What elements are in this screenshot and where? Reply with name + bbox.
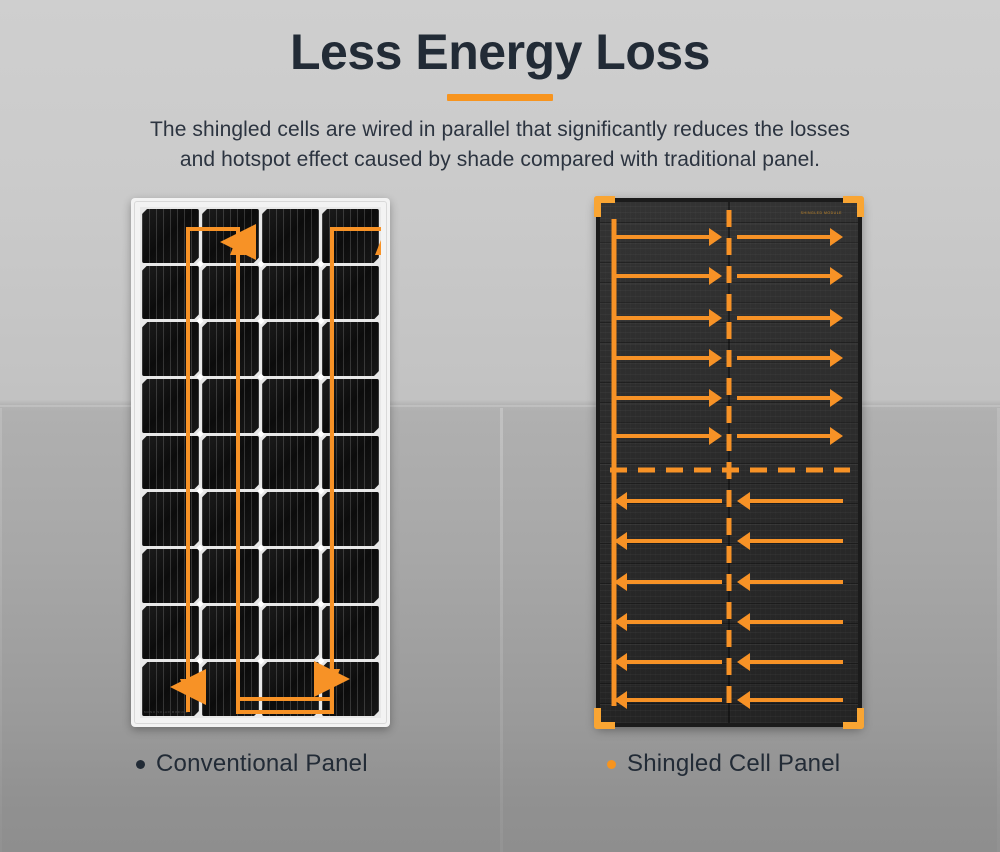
shingled-arrow-upper-right-3 xyxy=(737,309,843,327)
shingled-arrow-upper-right-5 xyxy=(737,389,843,407)
conventional-cell-grid xyxy=(140,207,381,718)
subtitle-line-2: and hotspot effect caused by shade compa… xyxy=(0,145,1000,175)
bullet-dot-shingled-icon xyxy=(607,760,616,769)
shingled-arrow-upper-right-4 xyxy=(737,349,843,367)
background-divider-left xyxy=(0,408,2,852)
shingled-arrow-upper-left-3 xyxy=(614,309,722,327)
subtitle-line-1: The shingled cells are wired in parallel… xyxy=(0,115,1000,145)
solar-cell xyxy=(142,209,199,263)
corner-bracket-bottom-left-icon xyxy=(594,708,615,729)
solar-cell xyxy=(262,606,319,660)
shingled-panel-caption-label: Shingled Cell Panel xyxy=(627,750,840,778)
solar-cell xyxy=(322,606,379,660)
solar-cell xyxy=(322,209,379,263)
solar-cell xyxy=(202,322,259,376)
solar-cell xyxy=(322,492,379,546)
shingled-arrow-lower-left-2 xyxy=(614,532,722,550)
solar-cell xyxy=(262,379,319,433)
solar-cell xyxy=(262,322,319,376)
page-subtitle: The shingled cells are wired in parallel… xyxy=(0,115,1000,175)
solar-cell xyxy=(322,549,379,603)
shingled-panel-caption: Shingled Cell Panel xyxy=(607,750,840,778)
corner-bracket-top-right-icon xyxy=(843,196,864,217)
solar-cell xyxy=(142,379,199,433)
shingled-center-seam xyxy=(728,202,730,723)
conventional-panel-caption: Conventional Panel xyxy=(136,750,368,778)
solar-cell xyxy=(322,662,379,716)
shingled-arrow-lower-left-1 xyxy=(614,492,722,510)
corner-bracket-bottom-right-icon xyxy=(843,708,864,729)
conventional-panel-glass: MONO SOLAR MODULE xyxy=(140,207,381,718)
background-divider-center xyxy=(500,408,503,852)
solar-cell xyxy=(142,606,199,660)
shingled-arrow-upper-left-4 xyxy=(614,349,722,367)
solar-cell xyxy=(202,266,259,320)
solar-cell xyxy=(262,436,319,490)
shingled-arrow-upper-right-1 xyxy=(737,228,843,246)
solar-cell xyxy=(262,662,319,716)
solar-cell xyxy=(202,662,259,716)
title-underline-accent xyxy=(447,94,553,101)
solar-cell xyxy=(202,492,259,546)
solar-cell xyxy=(202,379,259,433)
page-title: Less Energy Loss xyxy=(0,24,1000,82)
solar-cell xyxy=(322,266,379,320)
shingled-arrow-upper-left-1 xyxy=(614,228,722,246)
solar-cell xyxy=(142,266,199,320)
shingled-panel-micro-label: SHINGLED MODULE xyxy=(801,211,842,215)
shingled-arrow-lower-right-1 xyxy=(737,492,843,510)
bullet-dot-conventional-icon xyxy=(136,760,145,769)
shingled-panel-glass: SHINGLED MODULE xyxy=(600,202,858,723)
solar-cell xyxy=(142,549,199,603)
solar-cell xyxy=(202,606,259,660)
solar-cell xyxy=(202,436,259,490)
solar-cell xyxy=(142,662,199,716)
solar-cell xyxy=(202,209,259,263)
shingled-panel-image: SHINGLED MODULE xyxy=(596,198,862,727)
solar-cell xyxy=(142,322,199,376)
shingled-arrow-lower-right-2 xyxy=(737,532,843,550)
infographic-canvas: Less Energy Loss The shingled cells are … xyxy=(0,0,1000,852)
corner-bracket-top-left-icon xyxy=(594,196,615,217)
solar-cell xyxy=(262,549,319,603)
solar-cell xyxy=(262,266,319,320)
solar-cell xyxy=(142,436,199,490)
shingled-arrow-lower-right-6 xyxy=(737,691,843,709)
solar-cell xyxy=(202,549,259,603)
solar-cell xyxy=(322,379,379,433)
conventional-panel-image: MONO SOLAR MODULE xyxy=(131,198,390,727)
conventional-panel-caption-label: Conventional Panel xyxy=(156,750,368,778)
solar-cell xyxy=(262,209,319,263)
shingled-arrow-upper-left-5 xyxy=(614,389,722,407)
solar-cell xyxy=(142,492,199,546)
conventional-panel-micro-label: MONO SOLAR MODULE xyxy=(144,710,188,714)
solar-cell xyxy=(322,436,379,490)
solar-cell xyxy=(322,322,379,376)
solar-cell xyxy=(262,492,319,546)
shingled-arrow-lower-left-6 xyxy=(614,691,722,709)
